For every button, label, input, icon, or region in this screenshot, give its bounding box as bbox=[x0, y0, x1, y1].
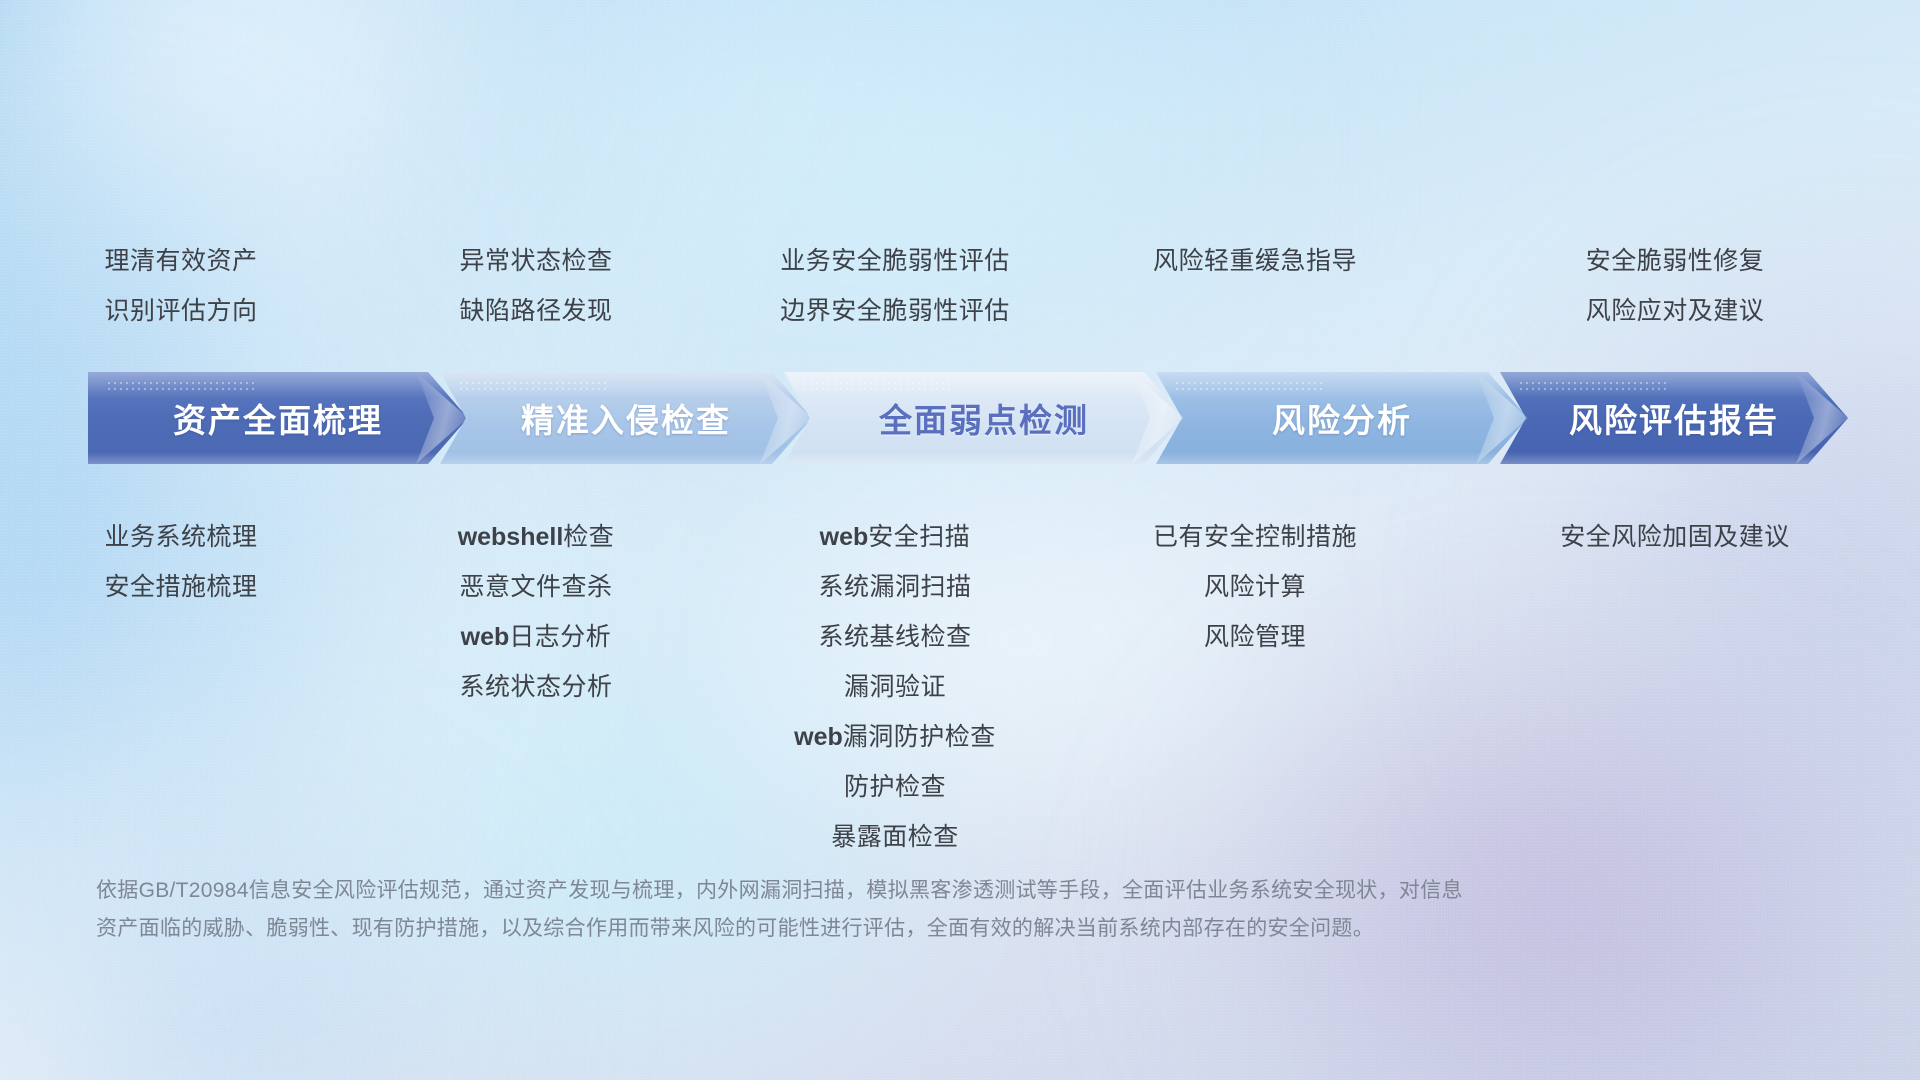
bottom-item: 系统状态分析 bbox=[362, 662, 710, 712]
bottom-item-label: 业务系统梳理 bbox=[104, 523, 257, 551]
bottom-item: web日志分析 bbox=[362, 612, 710, 662]
bottom-item-label: 暴露面检查 bbox=[831, 823, 959, 851]
bottom-item: 漏洞验证 bbox=[710, 662, 1080, 712]
bottom-item-label: 安全扫描 bbox=[868, 523, 970, 551]
bottom-item-label: 安全措施梳理 bbox=[104, 573, 257, 601]
bottom-item: 风险管理 bbox=[1080, 612, 1430, 662]
bottom-item: 安全措施梳理 bbox=[0, 562, 362, 612]
stage-arrow-asset-inventory[interactable]: 资产全面梳理 bbox=[88, 372, 468, 464]
stage-title: 精准入侵检查 bbox=[521, 394, 731, 442]
top-item: 异常状态检查 bbox=[362, 236, 710, 286]
bottom-item-latin: web bbox=[461, 623, 510, 651]
bottom-item-label: 系统漏洞扫描 bbox=[818, 573, 971, 601]
top-item: 边界安全脆弱性评估 bbox=[710, 286, 1080, 336]
bottom-item-label: 检查 bbox=[563, 523, 614, 551]
bottom-column-weakness-detection: web安全扫描系统漏洞扫描系统基线检查漏洞验证web漏洞防护检查防护检查暴露面检… bbox=[710, 512, 1080, 862]
arrow-dot-texture bbox=[802, 380, 952, 390]
stage-arrow-intrusion-check[interactable]: 精准入侵检查 bbox=[440, 372, 812, 464]
top-item: 风险应对及建议 bbox=[1430, 286, 1920, 336]
top-item: 识别评估方向 bbox=[0, 286, 362, 336]
footer-line: 资产面临的威胁、脆弱性、现有防护措施，以及综合作用而带来风险的可能性进行评估，全… bbox=[96, 910, 1716, 948]
process-diagram: 理清有效资产 识别评估方向 异常状态检查 缺陷路径发现 业务安全脆弱性评估 边界… bbox=[0, 0, 1920, 1080]
bottom-item: web安全扫描 bbox=[710, 512, 1080, 562]
top-item: 风险轻重缓急指导 bbox=[1080, 236, 1430, 286]
bottom-column-intrusion-check: webshell检查恶意文件查杀web日志分析系统状态分析 bbox=[362, 512, 710, 712]
bottom-item: 防护检查 bbox=[710, 762, 1080, 812]
arrow-dot-texture bbox=[106, 380, 256, 390]
bottom-item-label: 系统基线检查 bbox=[818, 623, 971, 651]
top-item: 缺陷路径发现 bbox=[362, 286, 710, 336]
arrow-dot-texture bbox=[458, 380, 608, 390]
bottom-item-label: 漏洞验证 bbox=[844, 673, 946, 701]
bottom-item: 已有安全控制措施 bbox=[1080, 512, 1430, 562]
footer-line: 依据GB/T20984信息安全风险评估规范，通过资产发现与梳理，内外网漏洞扫描，… bbox=[96, 872, 1716, 910]
bottom-item-label: 恶意文件查杀 bbox=[459, 573, 612, 601]
stage-title: 资产全面梳理 bbox=[173, 394, 383, 442]
bottom-item: web漏洞防护检查 bbox=[710, 712, 1080, 762]
top-item: 安全脆弱性修复 bbox=[1430, 236, 1920, 286]
top-item: 业务安全脆弱性评估 bbox=[710, 236, 1080, 286]
bottom-column-risk-analysis: 已有安全控制措施风险计算风险管理 bbox=[1080, 512, 1430, 662]
bottom-item: 系统基线检查 bbox=[710, 612, 1080, 662]
bottom-item: 风险计算 bbox=[1080, 562, 1430, 612]
bottom-item-label: 防护检查 bbox=[844, 773, 946, 801]
stage-arrow-risk-report[interactable]: 风险评估报告 bbox=[1500, 372, 1848, 464]
footer-description: 依据GB/T20984信息安全风险评估规范，通过资产发现与梳理，内外网漏洞扫描，… bbox=[96, 872, 1716, 948]
bottom-item: webshell检查 bbox=[362, 512, 710, 562]
arrow-dot-texture bbox=[1518, 380, 1668, 390]
bottom-item: 暴露面检查 bbox=[710, 812, 1080, 862]
top-column-risk-analysis: 风险轻重缓急指导 bbox=[1080, 236, 1430, 286]
top-item: 理清有效资产 bbox=[0, 236, 362, 286]
bottom-item-label: 已有安全控制措施 bbox=[1153, 523, 1357, 551]
top-column-intrusion-check: 异常状态检查 缺陷路径发现 bbox=[362, 236, 710, 336]
stage-arrow-weakness-detection[interactable]: 全面弱点检测 bbox=[784, 372, 1184, 464]
bottom-item: 系统漏洞扫描 bbox=[710, 562, 1080, 612]
bottom-items-row: 业务系统梳理安全措施梳理 webshell检查恶意文件查杀web日志分析系统状态… bbox=[0, 512, 1920, 862]
top-column-weakness-detection: 业务安全脆弱性评估 边界安全脆弱性评估 bbox=[710, 236, 1080, 336]
bottom-item-label: 日志分析 bbox=[509, 623, 611, 651]
bottom-item-label: 系统状态分析 bbox=[459, 673, 612, 701]
bottom-item-label: 风险管理 bbox=[1204, 623, 1306, 651]
bottom-item: 安全风险加固及建议 bbox=[1430, 512, 1920, 562]
stage-arrow-band: 资产全面梳理 精准入侵检查 全面弱点检测 风险分析 bbox=[88, 372, 1848, 464]
bottom-item-label: 漏洞防护检查 bbox=[843, 723, 996, 751]
stage-title: 风险分析 bbox=[1272, 394, 1412, 442]
bottom-item: 业务系统梳理 bbox=[0, 512, 362, 562]
arrow-dot-texture bbox=[1174, 380, 1324, 390]
top-column-asset-inventory: 理清有效资产 识别评估方向 bbox=[0, 236, 362, 336]
top-column-risk-report: 安全脆弱性修复 风险应对及建议 bbox=[1430, 236, 1920, 336]
bottom-item-label: 安全风险加固及建议 bbox=[1560, 523, 1790, 551]
bottom-item: 恶意文件查杀 bbox=[362, 562, 710, 612]
bottom-item-latin: web bbox=[794, 723, 843, 751]
bottom-column-risk-report: 安全风险加固及建议 bbox=[1430, 512, 1920, 562]
bottom-column-asset-inventory: 业务系统梳理安全措施梳理 bbox=[0, 512, 362, 612]
bottom-item-latin: web bbox=[820, 523, 869, 551]
bottom-item-latin: webshell bbox=[458, 523, 564, 551]
stage-title: 风险评估报告 bbox=[1569, 394, 1779, 442]
stage-arrow-risk-analysis[interactable]: 风险分析 bbox=[1156, 372, 1528, 464]
bottom-item-label: 风险计算 bbox=[1204, 573, 1306, 601]
top-items-row: 理清有效资产 识别评估方向 异常状态检查 缺陷路径发现 业务安全脆弱性评估 边界… bbox=[0, 236, 1920, 336]
stage-title: 全面弱点检测 bbox=[879, 394, 1089, 442]
